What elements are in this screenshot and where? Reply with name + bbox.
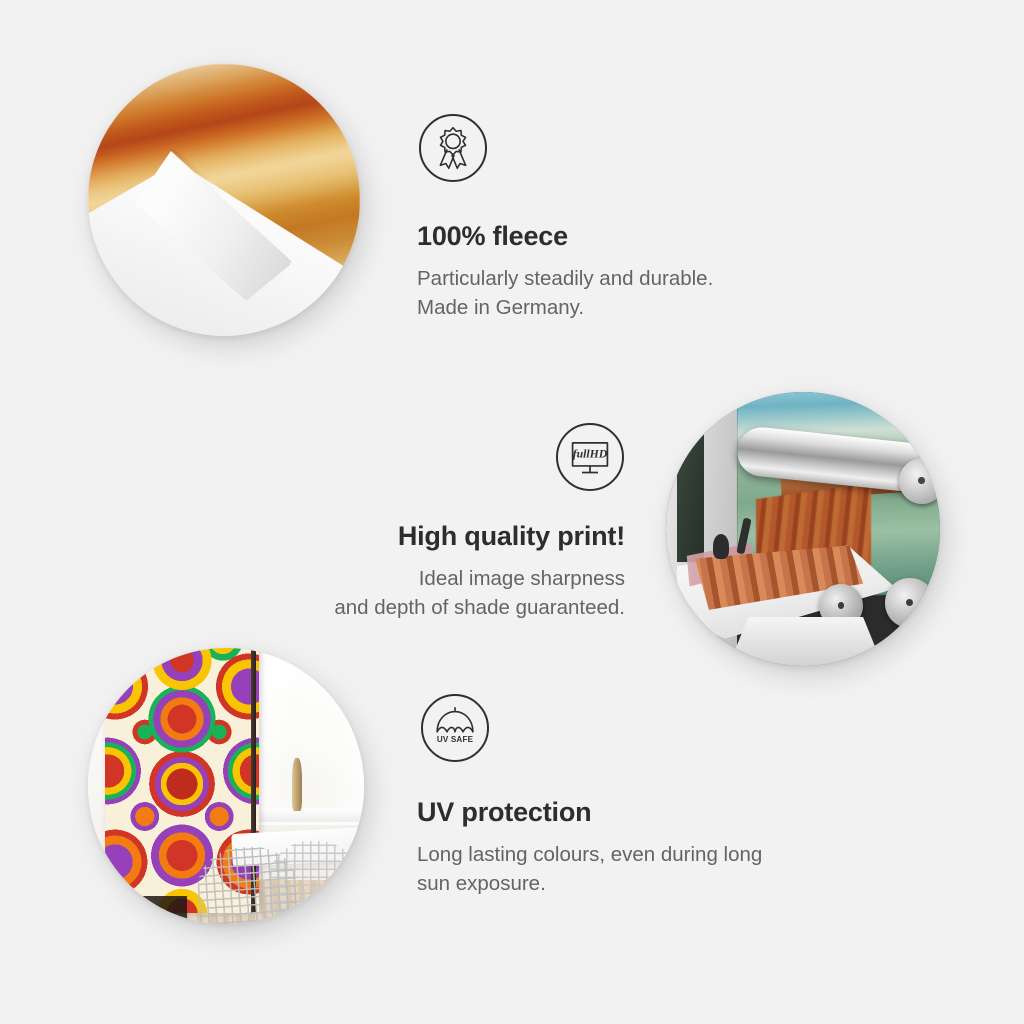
uv-description-line-2: sun exposure.: [417, 869, 867, 898]
uv-description: Long lasting colours, even during long s…: [417, 840, 867, 898]
fullhd-monitor-icon: fullHD: [556, 423, 624, 491]
feature-panel: 100% fleece Particularly steadily and du…: [0, 0, 1024, 1024]
print-description-line-1: Ideal image sharpness: [205, 564, 625, 593]
fleece-photo-inner: [88, 64, 360, 336]
printer-base-panel: [726, 617, 885, 666]
printer-photo-inner: [666, 392, 940, 666]
printing-press-photo: [666, 392, 940, 666]
printer-side-plate: [677, 408, 704, 561]
fleece-sheet-photo: [88, 64, 360, 336]
print-feature-text: High quality print! Ideal image sharpnes…: [205, 522, 625, 622]
fleece-description: Particularly steadily and durable. Made …: [417, 264, 847, 322]
fleece-title: 100% fleece: [417, 222, 847, 252]
room-candlestick: [292, 758, 302, 810]
printer-roller-end-cap: [899, 458, 940, 505]
fleece-description-line-2: Made in Germany.: [417, 293, 847, 322]
uv-description-line-1: Long lasting colours, even during long: [417, 840, 867, 869]
uv-safe-umbrella-icon: UV SAFE: [421, 694, 489, 762]
award-ribbon-icon: [419, 114, 487, 182]
fleece-description-line-1: Particularly steadily and durable.: [417, 264, 847, 293]
uv-title: UV protection: [417, 798, 867, 828]
wall-base-shadow: [116, 896, 188, 924]
room-window: [259, 654, 364, 825]
uv-feature-text: UV protection Long lasting colours, even…: [417, 798, 867, 898]
fleece-feature-text: 100% fleece Particularly steadily and du…: [417, 222, 847, 322]
mandala-wallpaper-room-photo: [88, 648, 364, 924]
fullhd-icon-label: fullHD: [573, 448, 608, 461]
printer-knob: [713, 534, 729, 559]
print-description: Ideal image sharpness and depth of shade…: [205, 564, 625, 622]
print-description-line-2: and depth of shade guaranteed.: [205, 593, 625, 622]
room-window-sill: [259, 808, 364, 822]
print-title: High quality print!: [205, 522, 625, 552]
room-photo-inner: [88, 648, 364, 924]
printer-wheel-right: [885, 578, 934, 627]
uv-safe-icon-label: UV SAFE: [437, 735, 474, 744]
